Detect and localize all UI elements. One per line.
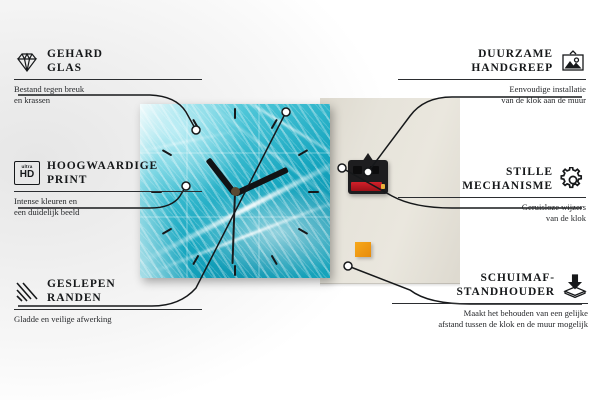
- clock-tick: [234, 108, 236, 119]
- clock-second-hand: [231, 192, 236, 264]
- feature-description: Maakt het behouden van een gelijkeafstan…: [392, 308, 588, 329]
- divider: [14, 191, 202, 192]
- feature-gehard-glas: GEHARDGLAS Bestand tegen breuken krassen: [14, 48, 202, 105]
- clock-tick: [234, 265, 236, 276]
- feature-title: DUURZAMEHANDGREEP: [471, 48, 553, 75]
- hd-icon-main-label: HD: [20, 170, 34, 180]
- clock-center-cap: [231, 187, 240, 196]
- feature-hoogwaardige-print: ultra HD HOOGWAARDIGEPRINT Intense kleur…: [14, 160, 202, 217]
- ultra-hd-icon: ultra HD: [14, 161, 40, 187]
- feature-geslepen-randen: GESLEPENRANDEN Gladde en veilige afwerki…: [14, 278, 202, 325]
- divider: [392, 303, 588, 304]
- feature-header: ultra HD HOOGWAARDIGEPRINT: [14, 160, 202, 187]
- clock-tick: [192, 119, 199, 130]
- diagonal-lines-icon: [14, 279, 40, 305]
- mechanism-slot: [353, 166, 362, 174]
- foam-spacer: [355, 242, 371, 257]
- divider: [14, 309, 202, 310]
- diamond-icon: [14, 49, 40, 75]
- feature-header: GESLEPENRANDEN: [14, 278, 202, 305]
- feature-title: SCHUIMAF-STANDHOUDER: [456, 272, 555, 299]
- clock-tick: [162, 228, 173, 235]
- feature-description: Intense kleuren eneen duidelijk beeld: [14, 196, 202, 217]
- divider: [14, 79, 202, 80]
- feature-schuimafstandhouder: SCHUIMAF-STANDHOUDER Maakt het behouden …: [392, 272, 588, 329]
- mechanism-body: [348, 160, 388, 194]
- feature-description: Bestand tegen breuken krassen: [14, 84, 202, 105]
- feature-title: GEHARDGLAS: [47, 48, 103, 75]
- feature-title: STILLEMECHANISME: [462, 166, 553, 193]
- feature-title: HOOGWAARDIGEPRINT: [47, 160, 158, 187]
- feature-header: SCHUIMAF-STANDHOUDER: [392, 272, 588, 299]
- print-seam: [258, 104, 260, 278]
- feature-description: Gladde en veilige afwerking: [14, 314, 202, 325]
- arrow-down-pad-icon: [562, 273, 588, 299]
- clock-tick: [271, 119, 278, 130]
- feature-description: Geruisloze wijzersvan de klok: [398, 202, 586, 223]
- feature-stille-mechanisme: STILLEMECHANISME Geruisloze wijzersvan d…: [398, 166, 586, 223]
- feature-header: DUURZAMEHANDGREEP: [398, 48, 586, 75]
- framed-picture-icon: [560, 49, 586, 75]
- feature-title: GESLEPENRANDEN: [47, 278, 116, 305]
- clock-tick: [298, 228, 309, 235]
- feature-duurzame-handgreep: DUURZAMEHANDGREEP Eenvoudige installatie…: [398, 48, 586, 105]
- feather-streak: [182, 104, 330, 182]
- divider: [398, 197, 586, 198]
- infographic-canvas: GEHARDGLAS Bestand tegen breuken krassen…: [0, 0, 600, 400]
- feature-header: GEHARDGLAS: [14, 48, 202, 75]
- gear-icon: [560, 167, 586, 193]
- battery: [351, 182, 382, 191]
- feature-description: Eenvoudige installatievan de klok aan de…: [398, 84, 586, 105]
- clock-tick: [308, 191, 319, 193]
- divider: [398, 79, 586, 80]
- feature-header: STILLEMECHANISME: [398, 166, 586, 193]
- clock-mechanism: [348, 160, 388, 194]
- mechanism-slot: [370, 166, 379, 174]
- clock-tick: [271, 255, 278, 266]
